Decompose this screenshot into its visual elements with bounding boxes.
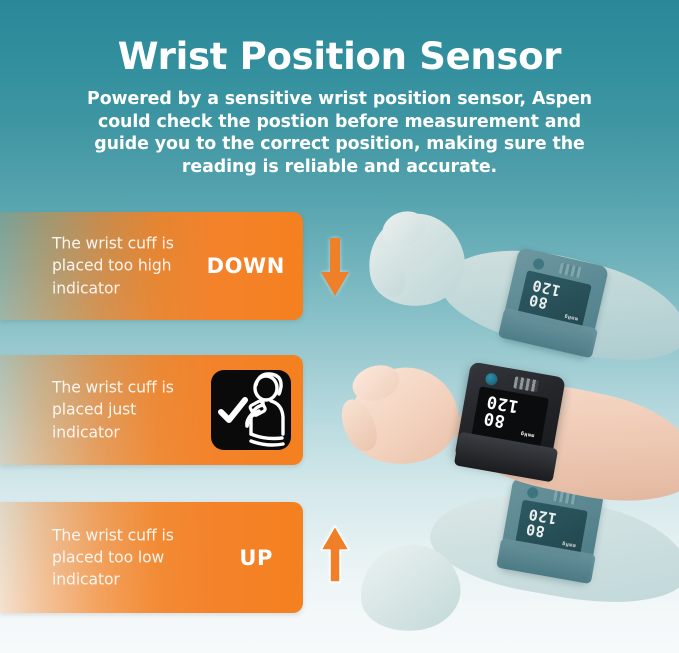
banner-too-low-text: The wrist cuff is placed too low indicat… [52,524,222,591]
banner-just-right-line2: placed just [52,399,222,421]
banner-just-right-line3: indicator [52,421,222,443]
banner-too-high-line3: indicator [52,277,222,299]
infographic-canvas: 120 80 mmHg Aspen 120 80 mmHg Aspen [0,0,679,653]
banner-too-low-action-label: UP [239,546,273,570]
page-subtitle: Powered by a sensitive wrist position se… [82,75,598,179]
banner-too-high-action-label: DOWN [207,254,285,278]
power-button-too-low [526,486,539,499]
device-vent-too-high [559,263,583,279]
banner-too-high-text: The wrist cuff is placed too high indica… [52,233,222,300]
power-button-just-right [485,372,499,386]
power-button-too-high [532,257,545,270]
lcd-diastolic-too-low: 80 [524,520,546,541]
header-block: Wrist Position Sensor Powered by a sensi… [0,0,679,179]
banner-too-low-line3: indicator [52,569,222,591]
arrow-up-icon [317,524,353,588]
lcd-unit-too-low: mmHg [561,540,576,548]
arrow-down-icon [317,238,353,302]
banner-too-high-line1: The wrist cuff is [52,233,222,255]
lcd-unit-too-high: mmHg [564,313,579,322]
page-title: Wrist Position Sensor [0,0,679,75]
seated-posture-check-icon [211,370,291,450]
banner-too-high[interactable]: The wrist cuff is placed too high indica… [0,212,303,320]
banner-just-right[interactable]: The wrist cuff is placed just indicator [0,355,303,465]
banner-too-high-line2: placed too high [52,255,222,277]
lcd-diastolic-too-high: 80 [527,291,550,313]
banner-just-right-line1: The wrist cuff is [52,377,222,399]
lcd-unit-just-right: mmHg [520,430,535,438]
banner-just-right-text: The wrist cuff is placed just indicator [52,377,222,444]
banner-too-low[interactable]: The wrist cuff is placed too low indicat… [0,502,303,613]
device-vent-just-right [513,376,539,392]
banner-too-low-line2: placed too low [52,546,222,568]
lcd-diastolic-just-right: 80 [482,408,507,431]
banner-too-low-line1: The wrist cuff is [52,524,222,546]
